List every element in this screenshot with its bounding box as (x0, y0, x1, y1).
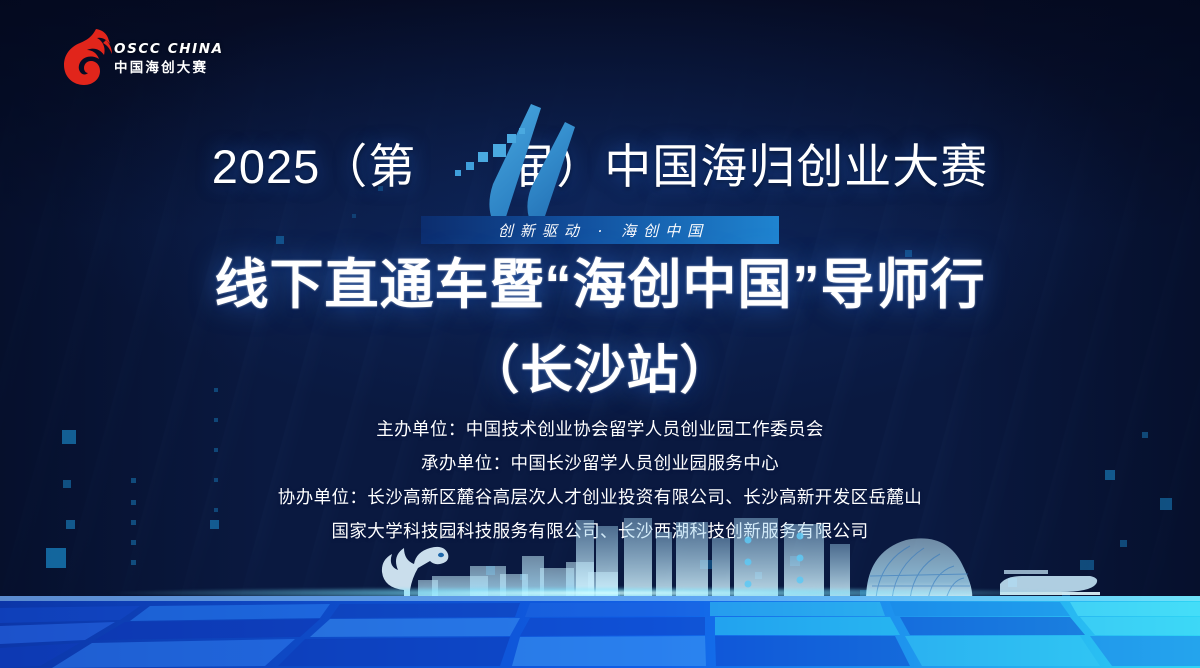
title-block: 2025（第届）中国海归创业大赛 (0, 142, 1200, 193)
slogan-text: 创新驱动 · 海创中国 (491, 220, 709, 241)
poster-canvas: OSCC CHINA 中国海创大赛 2025（第届）中国海归创业大赛 (0, 0, 1200, 668)
title-part-1: 2025（第 (212, 140, 417, 193)
headline-line-2: （长沙站） (0, 328, 1200, 403)
organizer-line: 协办单位：长沙高新区麓谷高层次人才创业投资有限公司、长沙高新开发区岳麓山 (0, 480, 1200, 514)
brand-logo-cn: 中国海创大赛 (114, 59, 224, 76)
brand-logo-en: OSCC CHINA (114, 42, 224, 57)
organizer-line: 国家大学科技园科技服务有限公司、长沙西湖科技创新服务有限公司 (0, 514, 1200, 548)
headline-line-1: 线下直通车暨“海创中国”导师行 (0, 258, 1200, 313)
organizer-line: 承办单位：中国长沙留学人员创业园服务中心 (0, 446, 1200, 480)
slogan-bar: 创新驱动 · 海创中国 (421, 216, 779, 244)
organizer-list: 主办单位：中国技术创业协会留学人员创业园工作委员会 承办单位：中国长沙留学人员创… (0, 412, 1200, 548)
title-part-2: 届）中国海归创业大赛 (508, 140, 988, 193)
flame-phoenix-logo-icon (62, 28, 114, 86)
page-title: 2025（第届）中国海归创业大赛 (212, 142, 989, 193)
brand-logo-texts: OSCC CHINA 中国海创大赛 (114, 42, 224, 76)
brand-logo: OSCC CHINA 中国海创大赛 (62, 28, 212, 90)
organizer-line: 主办单位：中国技术创业协会留学人员创业园工作委员会 (0, 412, 1200, 446)
